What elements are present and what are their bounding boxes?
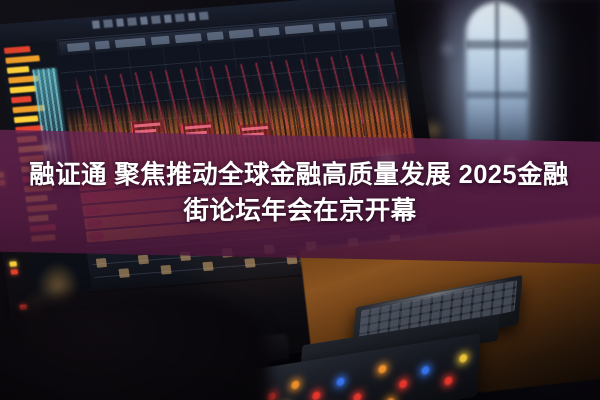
headline: 融证通 聚焦推动全球金融高质量发展 2025金融 街论坛年会在京开幕 xyxy=(0,157,600,229)
headline-line-2: 街论坛年会在京开幕 xyxy=(0,193,600,229)
headline-line-1: 融证通 聚焦推动全球金融高质量发展 2025金融 xyxy=(0,157,600,193)
news-thumbnail-image: 融证通 聚焦推动全球金融高质量发展 2025金融 街论坛年会在京开幕 xyxy=(0,0,600,400)
overlay-bokeh-light xyxy=(39,137,61,159)
